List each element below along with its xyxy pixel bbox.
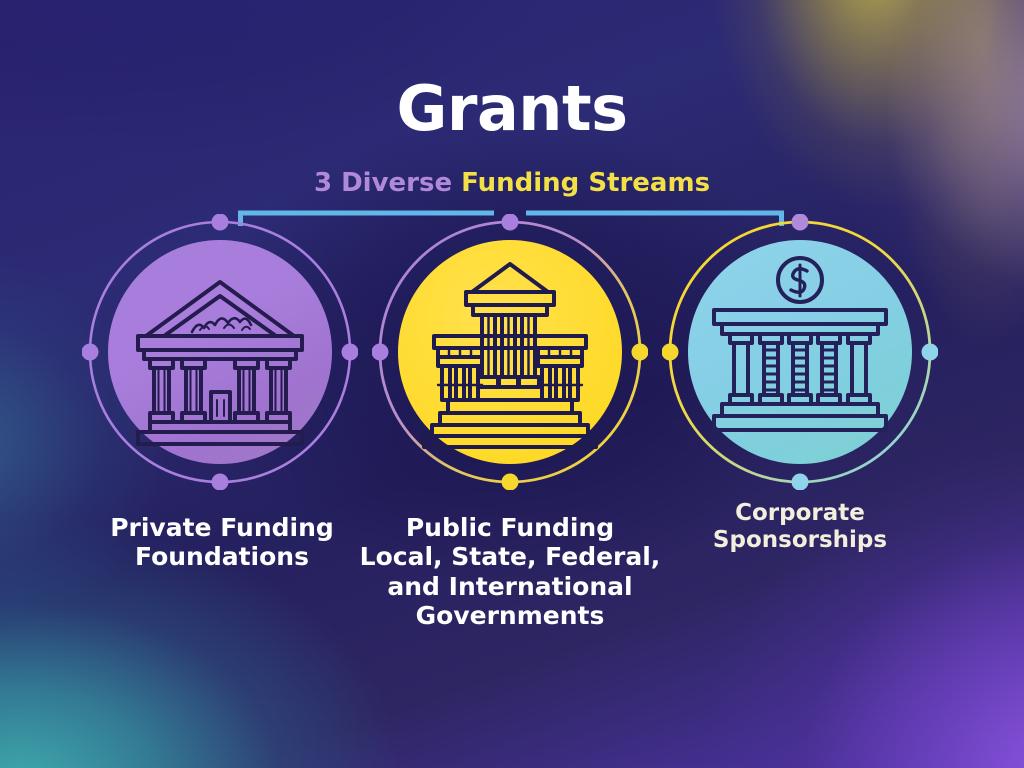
caption-public-funding: Public Funding Local, State, Federal, an… [340, 513, 680, 630]
page-subtitle: 3 Diverse Funding Streams [0, 170, 1024, 196]
caption-line: Governments [340, 601, 680, 630]
classical-bank-building-icon [108, 240, 332, 464]
node-private-funding[interactable] [82, 214, 358, 490]
infographic-canvas: Grants 3 Diverse Funding Streams [0, 0, 1024, 768]
caption-line: and International [340, 572, 680, 601]
caption-corporate-sponsorships: Corporate Sponsorships [672, 500, 928, 554]
node-corporate-sponsorships[interactable] [662, 214, 938, 490]
caption-line: Corporate [672, 500, 928, 527]
government-capitol-building-icon [398, 240, 622, 464]
caption-line: Foundations [72, 542, 372, 571]
bank-with-dollar-sign-icon [688, 240, 912, 464]
caption-line: Private Funding [72, 513, 372, 542]
subtitle-streams-text: Funding Streams [461, 168, 710, 198]
page-title: Grants [0, 78, 1024, 140]
subtitle-count-text: 3 Diverse [314, 168, 461, 198]
caption-line: Local, State, Federal, [340, 542, 680, 571]
caption-private-funding: Private Funding Foundations [72, 513, 372, 572]
caption-line: Sponsorships [672, 527, 928, 554]
caption-line: Public Funding [340, 513, 680, 542]
node-public-funding[interactable] [372, 214, 648, 490]
